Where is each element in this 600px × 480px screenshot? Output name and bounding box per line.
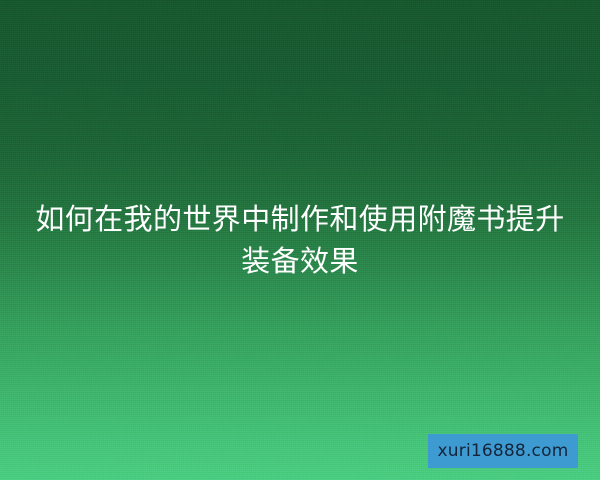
title-container: 如何在我的世界中制作和使用附魔书提升装备效果 [0, 0, 600, 480]
title-card: 如何在我的世界中制作和使用附魔书提升装备效果 xuri16888.com [0, 0, 600, 480]
watermark-badge: xuri16888.com [428, 434, 578, 468]
watermark-label: xuri16888.com [438, 443, 569, 460]
page-title: 如何在我的世界中制作和使用附魔书提升装备效果 [26, 198, 574, 282]
